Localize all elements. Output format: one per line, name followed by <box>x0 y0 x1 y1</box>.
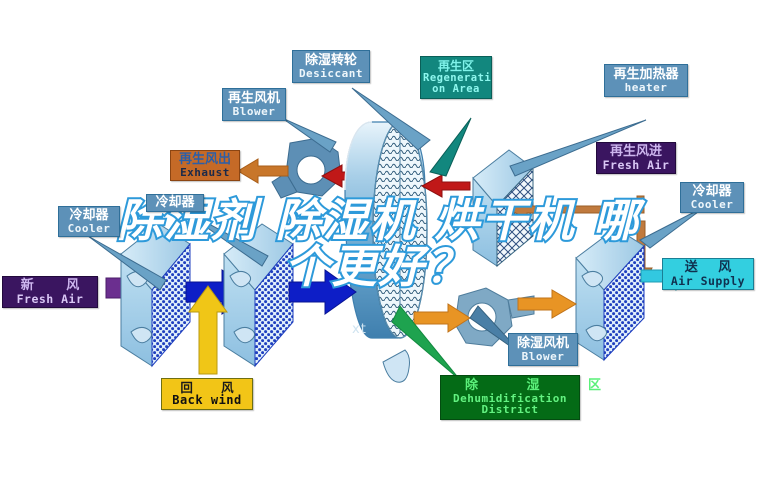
label-dehum-blower: 除湿风机 Blower <box>508 333 578 366</box>
label-back-wind: 回 风 Back wind <box>161 378 253 410</box>
label-regen-area-cn: 再生区 <box>423 60 489 73</box>
label-dehum-blower-cn: 除湿风机 <box>511 337 575 351</box>
label-regen-blower: 再生风机 Blower <box>222 88 286 121</box>
label-cooler-right-en: Cooler <box>683 199 741 211</box>
label-cooler-right: 冷却器 Cooler <box>680 182 744 213</box>
label-regen-blower-cn: 再生风机 <box>225 92 283 106</box>
label-air-supply-en: Air Supply <box>665 275 751 287</box>
diagram-canvas: 除湿剂 除湿机 烘干机 哪 个更好？ 除湿转轮 Desiccant 再生风机 B… <box>0 0 757 488</box>
label-fresh-air-en: Fresh Air <box>5 293 95 305</box>
label-cooler-mid-cn: 冷却器 <box>149 196 201 210</box>
label-regen-heater-cn: 再生加热器 <box>607 68 685 82</box>
label-dehum-district-en2: District <box>443 404 577 416</box>
label-regen-heater-en: heater <box>607 82 685 94</box>
label-dehum-district: 除 湿 区 Dehumidification District <box>440 375 580 420</box>
label-regen-area: 再生区 Regenerati on Area <box>420 56 492 99</box>
label-cooler-left-cn: 冷却器 <box>61 209 117 223</box>
label-regen-area-en1: Regenerati <box>423 73 489 84</box>
label-regen-fresh-air: 再生风进 Fresh Air <box>596 142 676 174</box>
label-exhaust-en: Exhaust <box>173 167 237 179</box>
label-regen-fresh-air-cn: 再生风进 <box>599 145 673 159</box>
label-regen-blower-en: Blower <box>225 106 283 118</box>
desiccant-rotor <box>345 122 427 382</box>
label-fresh-air-cn: 新 风 <box>5 279 95 293</box>
label-cooler-left-en: Cooler <box>61 223 117 235</box>
label-air-supply-cn: 送 风 <box>665 261 751 275</box>
label-exhaust: 再生风出 Exhaust <box>170 150 240 181</box>
label-fresh-air: 新 风 Fresh Air <box>2 276 98 308</box>
label-desiccant: 除湿转轮 Desiccant <box>292 50 370 83</box>
cooler-1-shape <box>121 224 190 366</box>
label-desiccant-cn: 除湿转轮 <box>295 54 367 68</box>
label-desiccant-en: Desiccant <box>295 68 367 80</box>
label-regen-area-en2: on Area <box>423 84 489 95</box>
label-back-wind-en: Back wind <box>164 394 250 407</box>
regen-inlet-arrow <box>422 175 470 197</box>
label-dehum-district-cn: 除 湿 区 <box>443 379 577 393</box>
label-dehum-blower-en: Blower <box>511 351 575 363</box>
label-regen-fresh-air-en: Fresh Air <box>599 159 673 171</box>
label-exhaust-cn: 再生风出 <box>173 153 237 167</box>
label-cooler-left: 冷却器 Cooler <box>58 206 120 237</box>
process-arrow-2 <box>289 270 356 314</box>
label-cooler-mid: 冷却器 <box>146 194 204 212</box>
watermark: xt <box>352 322 367 337</box>
label-regen-heater: 再生加热器 heater <box>604 64 688 97</box>
label-air-supply: 送 风 Air Supply <box>662 258 754 290</box>
label-cooler-right-cn: 冷却器 <box>683 185 741 199</box>
cooler-right-shape <box>576 228 644 360</box>
